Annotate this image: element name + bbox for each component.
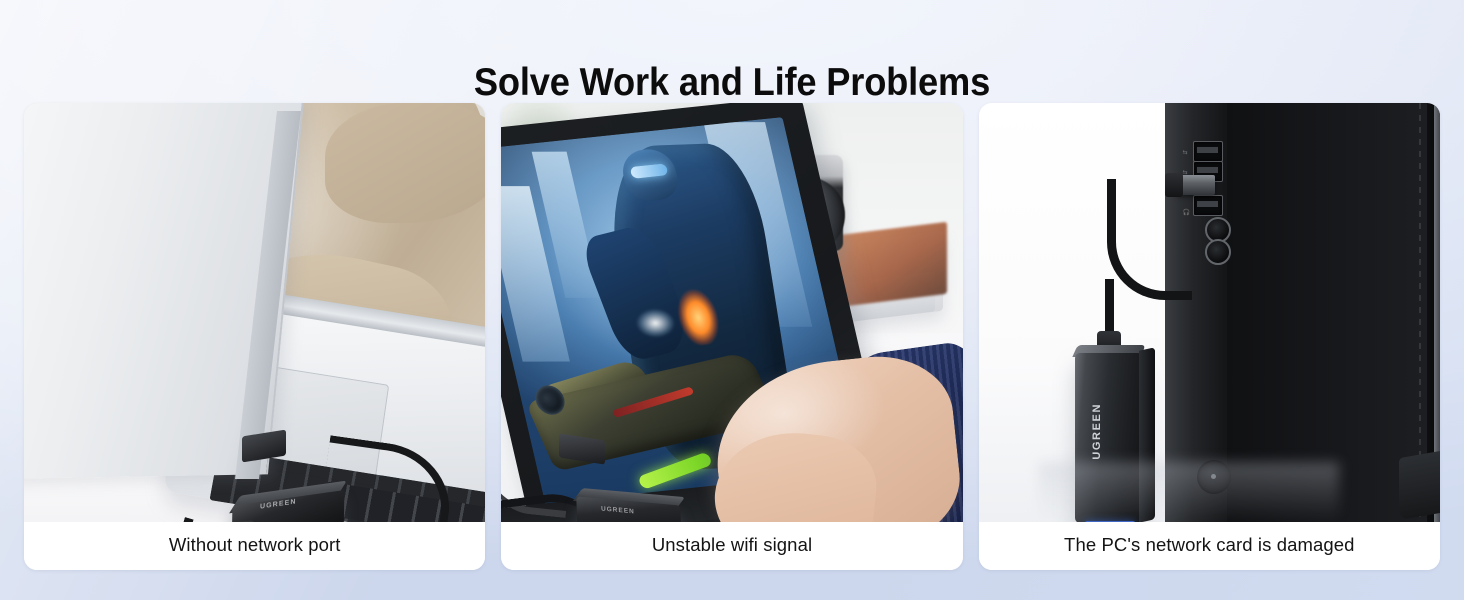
headphone-jack bbox=[1205, 239, 1231, 265]
beige-sweater-shoulder bbox=[325, 103, 485, 223]
card-caption: Without network port bbox=[24, 522, 485, 570]
feature-card-damaged-network-card[interactable]: ⇆⇆🎤🎧 UGREEN UGREEN bbox=[979, 103, 1440, 570]
pc-tower-foot bbox=[1399, 446, 1440, 520]
ugreen-logo: UGREEN bbox=[1091, 403, 1103, 460]
scene-image-desktop-pc: ⇆⇆🎤🎧 UGREEN UGREEN bbox=[979, 103, 1440, 522]
surface-reflection bbox=[1039, 462, 1339, 522]
card-caption: Unstable wifi signal bbox=[501, 522, 962, 570]
product-feature-banner: Solve Work and Life Problems bbox=[0, 0, 1464, 600]
usb-port-3 bbox=[1193, 195, 1223, 216]
feature-card-without-network-port[interactable]: UGREEN Without network port bbox=[24, 103, 485, 570]
feature-card-unstable-wifi[interactable]: UGREEN Unstable wifi signal bbox=[501, 103, 962, 570]
usb-port-1 bbox=[1193, 141, 1223, 162]
pc-tower-side-panel bbox=[1227, 103, 1427, 522]
feature-card-row: UGREEN Without network port bbox=[24, 103, 1440, 570]
scene-image-gaming-laptop: UGREEN bbox=[501, 103, 962, 522]
scene-image-laptop-no-ethernet-port: UGREEN bbox=[24, 103, 485, 522]
page-title: Solve Work and Life Problems bbox=[51, 57, 1413, 109]
card-caption: The PC's network card is damaged bbox=[979, 522, 1440, 570]
